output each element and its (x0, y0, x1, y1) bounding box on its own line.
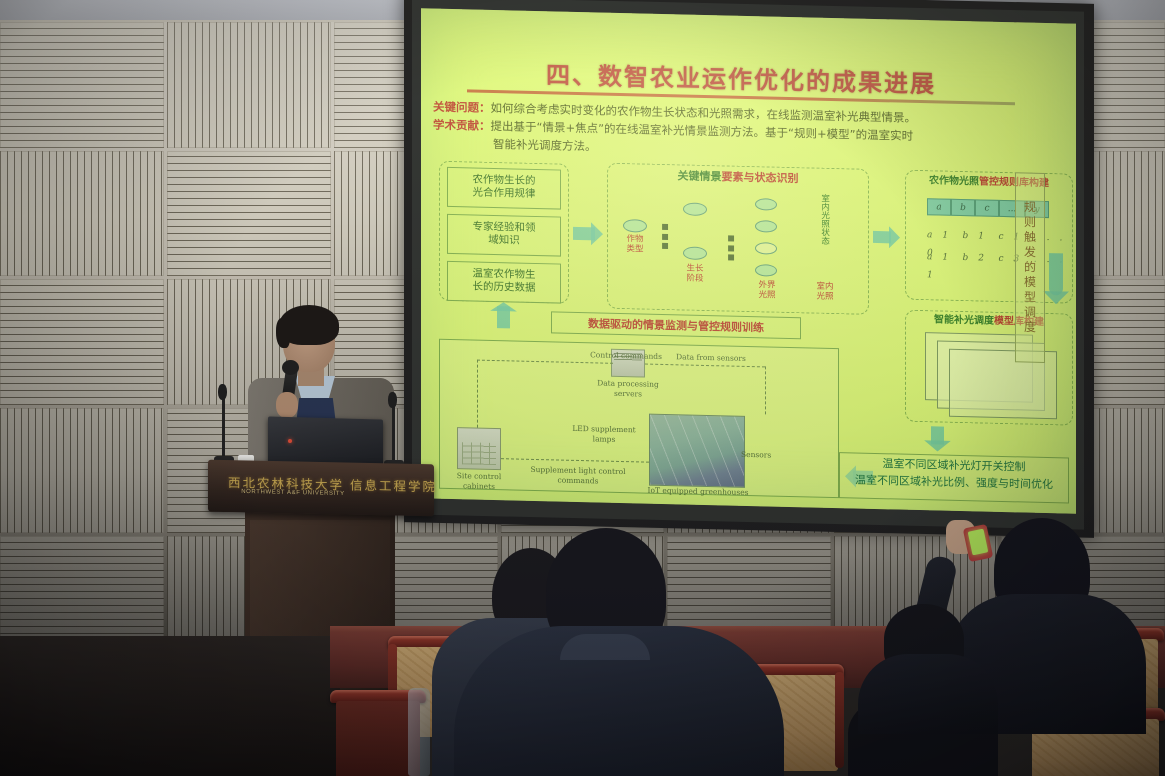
water-bottle (408, 688, 430, 776)
attendee-hood (560, 634, 650, 660)
rule-r1c1: a1 (927, 230, 958, 241)
dashed-path-sensors-down (765, 366, 766, 414)
contribution-line-2: 智能补光调度方法。 (493, 136, 597, 155)
key-problem-label: 关键问题： (433, 100, 491, 115)
handheld-microphone-head (282, 360, 299, 375)
middle-header-red: 要素与状态识别 (722, 170, 799, 185)
rule-col-b: b (951, 199, 975, 217)
graph-node-4 (755, 198, 777, 211)
rule-col-a: a (927, 198, 951, 216)
input-label-3: 温室农作物生 长的历史数据 (447, 267, 561, 296)
sensors-label: Sensors (741, 450, 795, 461)
gooseneck-mic-right-head (388, 392, 397, 408)
node-label-indoor-light: 室内 光照 (807, 282, 843, 302)
arrow-up-head (490, 302, 517, 312)
iot-greenhouse-photo (649, 414, 745, 488)
rule-col-c: c (975, 199, 999, 217)
input-label-1: 农作物生长的 光合作用规律 (447, 173, 561, 202)
arrow-inputs-to-middle-head (591, 222, 603, 245)
contribution-label: 学术贡献： (433, 118, 491, 133)
input-label-2: 专家经验和领 域知识 (447, 220, 561, 249)
attendee-body (858, 654, 998, 734)
middle-header-green: 关键情景 (678, 169, 722, 183)
supplement-light-control-label: Supplement light control commands (523, 465, 633, 487)
iot-equipped-greenhouses-label: IoT equipped greenhouses (643, 486, 753, 498)
graph-node-1 (623, 219, 647, 233)
control-commands-label: Control commands (581, 350, 671, 362)
node-label-crop-type: 作物 类型 (617, 235, 653, 255)
site-control-cabinet-photo (457, 427, 501, 470)
graph-node-7 (755, 264, 777, 277)
projected-slide: 四、数智农业运作优化的成果进展 关键问题：如何综合考虑实时变化的农作物生长状态和… (421, 8, 1076, 513)
dashed-path-commands-down (477, 360, 478, 428)
rule-r2c1: a1 (927, 252, 958, 263)
speaker-hair-side (276, 318, 290, 348)
node-dots-2: ▪▪▪ (727, 233, 735, 262)
chair-side-right (835, 672, 844, 768)
rule-r2c5: 1 (927, 270, 943, 280)
node-dots-1: ▪▪▪ (661, 222, 669, 251)
graph-node-5 (755, 220, 777, 233)
node-label-outdoor-light: 外界 光照 (749, 281, 785, 301)
led-supplement-lamps-label: LED supplement lamps (569, 424, 639, 445)
arrow-middle-to-right (873, 231, 891, 243)
gooseneck-mic-left-head (218, 384, 227, 400)
rule-r2c2: b2 (963, 253, 995, 264)
dark-left-area (0, 636, 340, 776)
rule-r1c2: b1 (963, 231, 995, 242)
model-header-green: 智能补光调度 (934, 314, 994, 326)
indoor-light-vertical-column: 室内光照状态 (819, 194, 830, 284)
result-box: 温室不同区域补光灯开关控制 温室不同区域补光比例、强度与时间优化 (839, 452, 1069, 503)
node-label-growth-stage: 生长 阶段 (677, 264, 713, 284)
data-processing-servers-label: Data processing servers (583, 378, 673, 400)
speaker-hand (276, 392, 298, 418)
site-control-cabinets-label: Site control cabinets (449, 471, 509, 492)
arrow-models-to-result-head (924, 440, 951, 452)
arrow-middle-to-right-head (889, 226, 900, 248)
rule-header-green: 农作物光照 (929, 175, 979, 187)
contribution-text-2: 智能补光调度方法。 (493, 137, 597, 153)
graph-node-6 (755, 242, 777, 255)
graph-node-2 (683, 202, 707, 216)
laptop-power-led (288, 439, 292, 443)
presentation-photo-scene: 四、数智农业运作优化的成果进展 关键问题：如何综合考虑实时变化的农作物生长状态和… (0, 0, 1165, 776)
graph-node-3 (683, 246, 707, 260)
gooseneck-mic-right-stem (392, 400, 395, 462)
gooseneck-mic-left-stem (222, 392, 225, 458)
side-vertical-label: 规则触发的模型调度 (1015, 172, 1045, 363)
arrow-rules-to-models (1049, 253, 1063, 295)
